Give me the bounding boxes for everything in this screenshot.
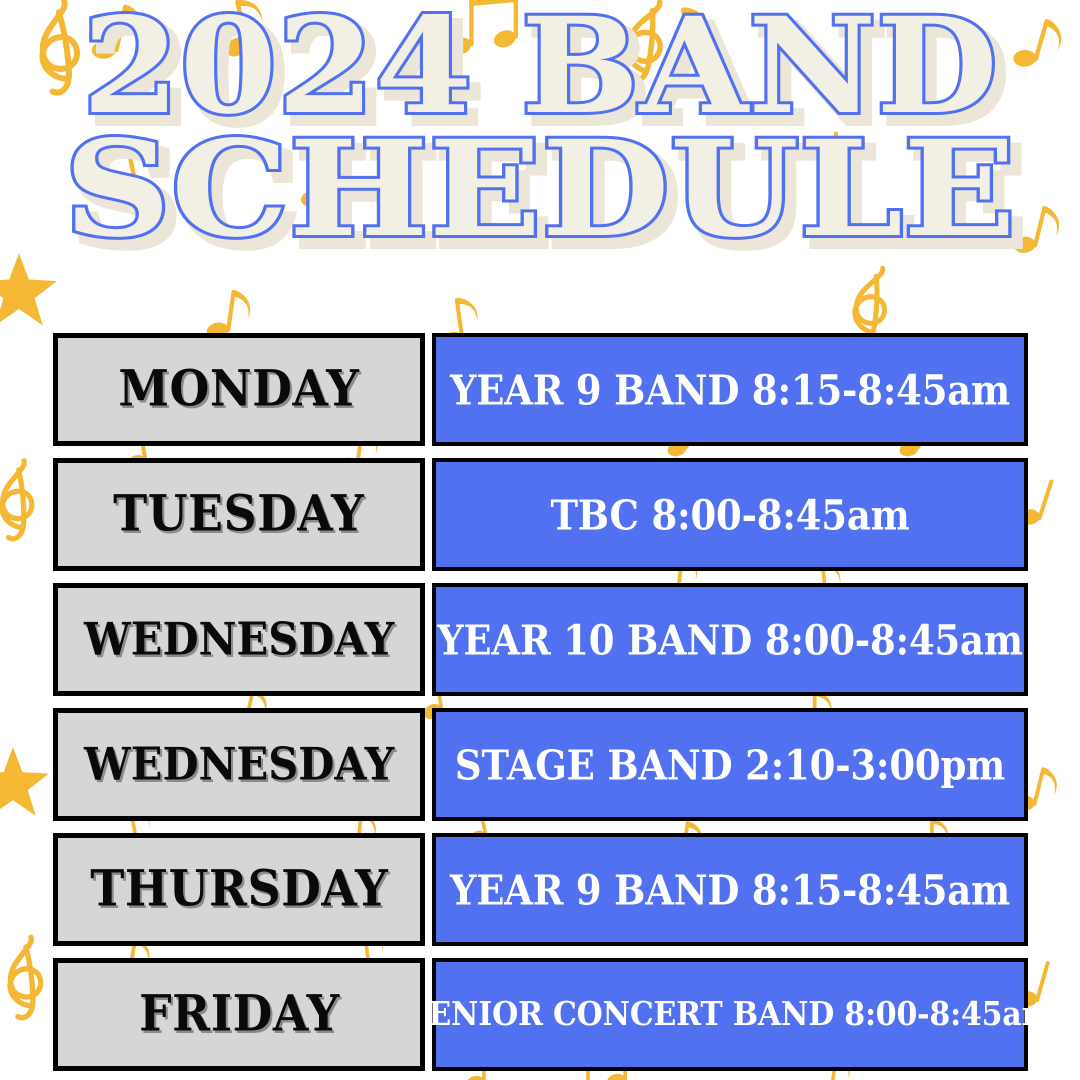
event-label: YEAR 9 BAND 8:15-8:45am (450, 865, 1010, 913)
schedule-row: YEAR 9 BAND 8:15-8:45amMONDAY (0, 333, 1080, 446)
event-label: TBC 8:00-8:45am (550, 490, 909, 538)
day-cell: WEDNESDAY (53, 583, 425, 696)
day-label: WEDNESDAY (84, 738, 394, 791)
event-cell: YEAR 9 BAND 8:15-8:45am (432, 833, 1028, 946)
event-cell: YEAR 9 BAND 8:15-8:45am (432, 333, 1028, 446)
event-cell: SENIOR CONCERT BAND 8:00-8:45am (432, 958, 1028, 1071)
schedule-row: STAGE BAND 2:10-3:00pmWEDNESDAY (0, 708, 1080, 821)
event-label: STAGE BAND 2:10-3:00pm (455, 740, 1005, 788)
title-line-2-face: SCHEDULE (0, 129, 1080, 252)
treble-clef-icon (853, 266, 888, 343)
day-label: THURSDAY (90, 861, 388, 918)
event-cell: TBC 8:00-8:45am (432, 458, 1028, 571)
day-cell: THURSDAY (53, 833, 425, 946)
event-cell: STAGE BAND 2:10-3:00pm (432, 708, 1028, 821)
day-cell: FRIDAY (53, 958, 425, 1071)
title-line-2: SCHEDULE SCHEDULE SCHEDULE (0, 129, 1080, 252)
poster-title: 2024 BAND 2024 BAND 2024 BAND SCHEDULE S… (0, 6, 1080, 252)
schedule-table: YEAR 9 BAND 8:15-8:45amMONDAYTBC 8:00-8:… (0, 333, 1080, 1080)
schedule-row: YEAR 9 BAND 8:15-8:45amTHURSDAY (0, 833, 1080, 946)
title-line-1: 2024 BAND 2024 BAND 2024 BAND (0, 6, 1080, 129)
day-cell: WEDNESDAY (53, 708, 425, 821)
event-label: YEAR 9 BAND 8:15-8:45am (450, 365, 1010, 413)
day-cell: MONDAY (53, 333, 425, 446)
star-icon (0, 253, 57, 325)
event-cell: YEAR 10 BAND 8:00-8:45am (432, 583, 1028, 696)
day-label: FRIDAY (139, 986, 340, 1043)
day-label: WEDNESDAY (84, 613, 394, 666)
schedule-row: YEAR 10 BAND 8:00-8:45amWEDNESDAY (0, 583, 1080, 696)
day-label: TUESDAY (113, 486, 364, 543)
schedule-row: TBC 8:00-8:45amTUESDAY (0, 458, 1080, 571)
day-label: MONDAY (118, 361, 359, 418)
event-label: YEAR 10 BAND 8:00-8:45am (437, 615, 1023, 663)
title-line-1-face: 2024 BAND (0, 6, 1080, 129)
band-schedule-poster: 2024 BAND 2024 BAND 2024 BAND SCHEDULE S… (0, 0, 1080, 1080)
day-cell: TUESDAY (53, 458, 425, 571)
schedule-row: SENIOR CONCERT BAND 8:00-8:45amFRIDAY (0, 958, 1080, 1071)
event-label: SENIOR CONCERT BAND 8:00-8:45am (407, 995, 1053, 1034)
